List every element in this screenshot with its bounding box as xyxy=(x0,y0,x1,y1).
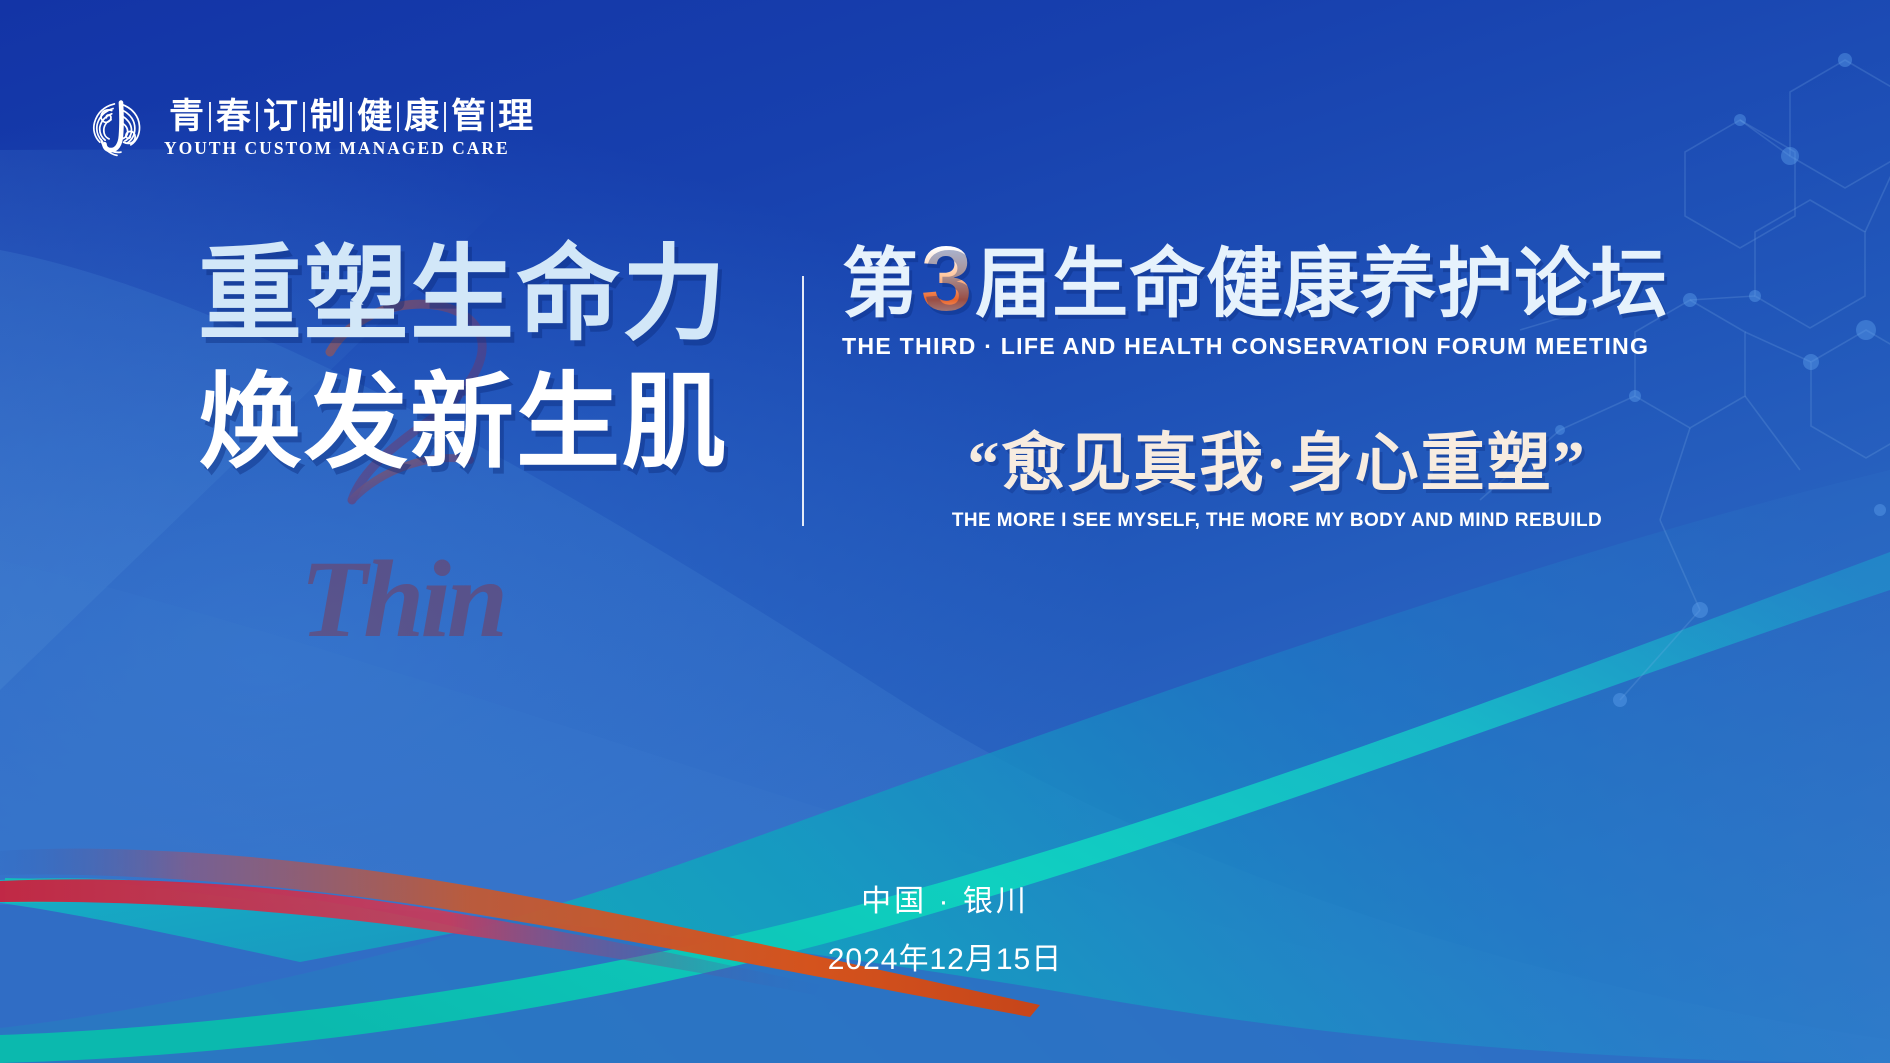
event-location: 中国 · 银川 xyxy=(0,880,1890,924)
logo-separator xyxy=(209,102,211,132)
logo-char-7: 管 xyxy=(446,99,491,135)
poster-canvas: 青 春 订 制 健 康 管 理 YOUTH CUSTOM MANAGED CAR… xyxy=(0,0,1890,1063)
phoenix-swirl-emblem-icon xyxy=(84,96,150,162)
slogan-chinese: “愈见真我·身心重塑” xyxy=(842,426,1712,502)
forum-title-prefix: 第 xyxy=(842,242,919,328)
logo-char-4: 制 xyxy=(305,99,350,135)
forum-title-block: 第3届生命健康养护论坛 THE THIRD · LIFE AND HEALTH … xyxy=(842,236,1712,360)
logo-char-2: 春 xyxy=(211,99,256,135)
logo-separator xyxy=(256,102,258,132)
logo-separator xyxy=(491,102,493,132)
logo-wordmark: 青 春 订 制 健 康 管 理 YOUTH CUSTOM MANAGED CAR… xyxy=(164,99,538,159)
forum-title-suffix: 届生命健康养护论坛 xyxy=(975,242,1668,328)
vertical-white-divider xyxy=(802,276,804,526)
forum-title-english: THE THIRD · LIFE AND HEALTH CONSERVATION… xyxy=(842,333,1699,360)
logo-char-3: 订 xyxy=(258,99,303,135)
logo-english-name: YOUTH CUSTOM MANAGED CARE xyxy=(164,138,538,159)
brand-logo: 青 春 订 制 健 康 管 理 YOUTH CUSTOM MANAGED CAR… xyxy=(84,96,538,162)
main-headline: 重塑生命力 焕发新生肌 xyxy=(198,236,788,482)
forum-edition-number: 3 xyxy=(919,236,975,322)
logo-chinese-name: 青 春 订 制 健 康 管 理 xyxy=(164,99,538,135)
logo-char-8: 理 xyxy=(493,99,538,135)
logo-char-1: 青 xyxy=(164,99,209,135)
event-footer: 中国 · 银川 2024年12月15日 xyxy=(0,880,1890,982)
slogan-english: THE MORE I SEE MYSELF, THE MORE MY BODY … xyxy=(842,510,1712,532)
logo-separator xyxy=(303,102,305,132)
logo-separator xyxy=(444,102,446,132)
logo-char-5: 健 xyxy=(352,99,397,135)
headline-section: Thin 重塑生命力 焕发新生肌 第3届生命健康养护论坛 THE THIRD ·… xyxy=(0,236,1890,556)
logo-char-6: 康 xyxy=(399,99,444,135)
headline-line-1: 重塑生命力 xyxy=(198,236,788,354)
slogan-block: “愈见真我·身心重塑” THE MORE I SEE MYSELF, THE M… xyxy=(842,426,1712,532)
forum-title: 第3届生命健康养护论坛 xyxy=(842,236,1712,328)
logo-separator xyxy=(397,102,399,132)
logo-separator xyxy=(350,102,352,132)
event-date: 2024年12月15日 xyxy=(0,938,1890,982)
headline-line-2: 焕发新生肌 xyxy=(198,364,788,482)
